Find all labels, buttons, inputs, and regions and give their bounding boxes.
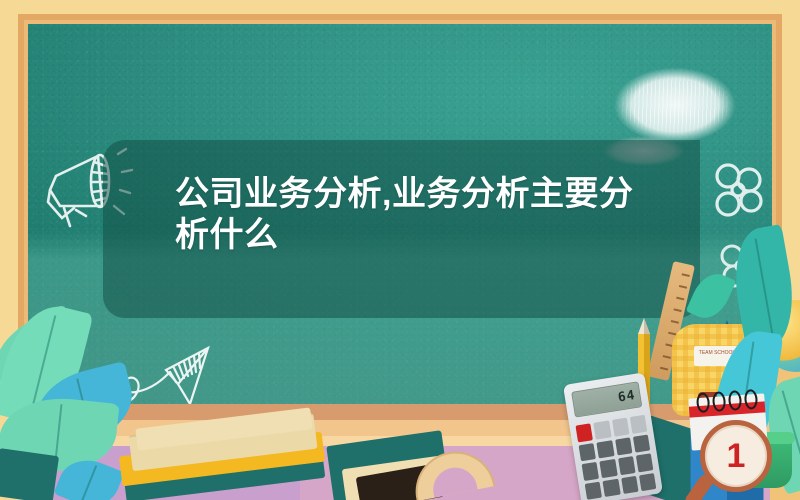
calculator-key[interactable] bbox=[639, 473, 657, 492]
calculator-key[interactable] bbox=[636, 453, 654, 472]
calculator-key[interactable] bbox=[603, 478, 621, 497]
calculator-key[interactable] bbox=[618, 456, 636, 475]
calculator-display: 64 bbox=[571, 381, 642, 417]
calculator-key[interactable] bbox=[612, 418, 630, 437]
calculator-key[interactable] bbox=[600, 459, 618, 478]
calculator-key[interactable] bbox=[593, 420, 611, 439]
calculator-key[interactable] bbox=[585, 481, 603, 500]
cover-image: 公司业务分析,业务分析主要分析什么 bbox=[0, 0, 800, 500]
magnifier-number: 1 bbox=[727, 439, 746, 473]
calculator-key[interactable] bbox=[630, 415, 648, 434]
calculator-key[interactable] bbox=[582, 462, 600, 481]
page-title: 公司业务分析,业务分析主要分析什么 bbox=[175, 174, 645, 256]
calculator-key[interactable] bbox=[621, 475, 639, 494]
magnifier: 1 bbox=[700, 420, 772, 492]
calculator-keypad[interactable] bbox=[575, 415, 656, 500]
calculator-key[interactable] bbox=[579, 443, 597, 462]
calculator-key[interactable] bbox=[633, 434, 651, 453]
calculator-key[interactable] bbox=[615, 437, 633, 456]
book-teal-left bbox=[0, 448, 59, 500]
calculator-key-ac[interactable] bbox=[575, 423, 593, 442]
calculator-key[interactable] bbox=[597, 440, 615, 459]
flower-doodle-large bbox=[706, 160, 768, 222]
